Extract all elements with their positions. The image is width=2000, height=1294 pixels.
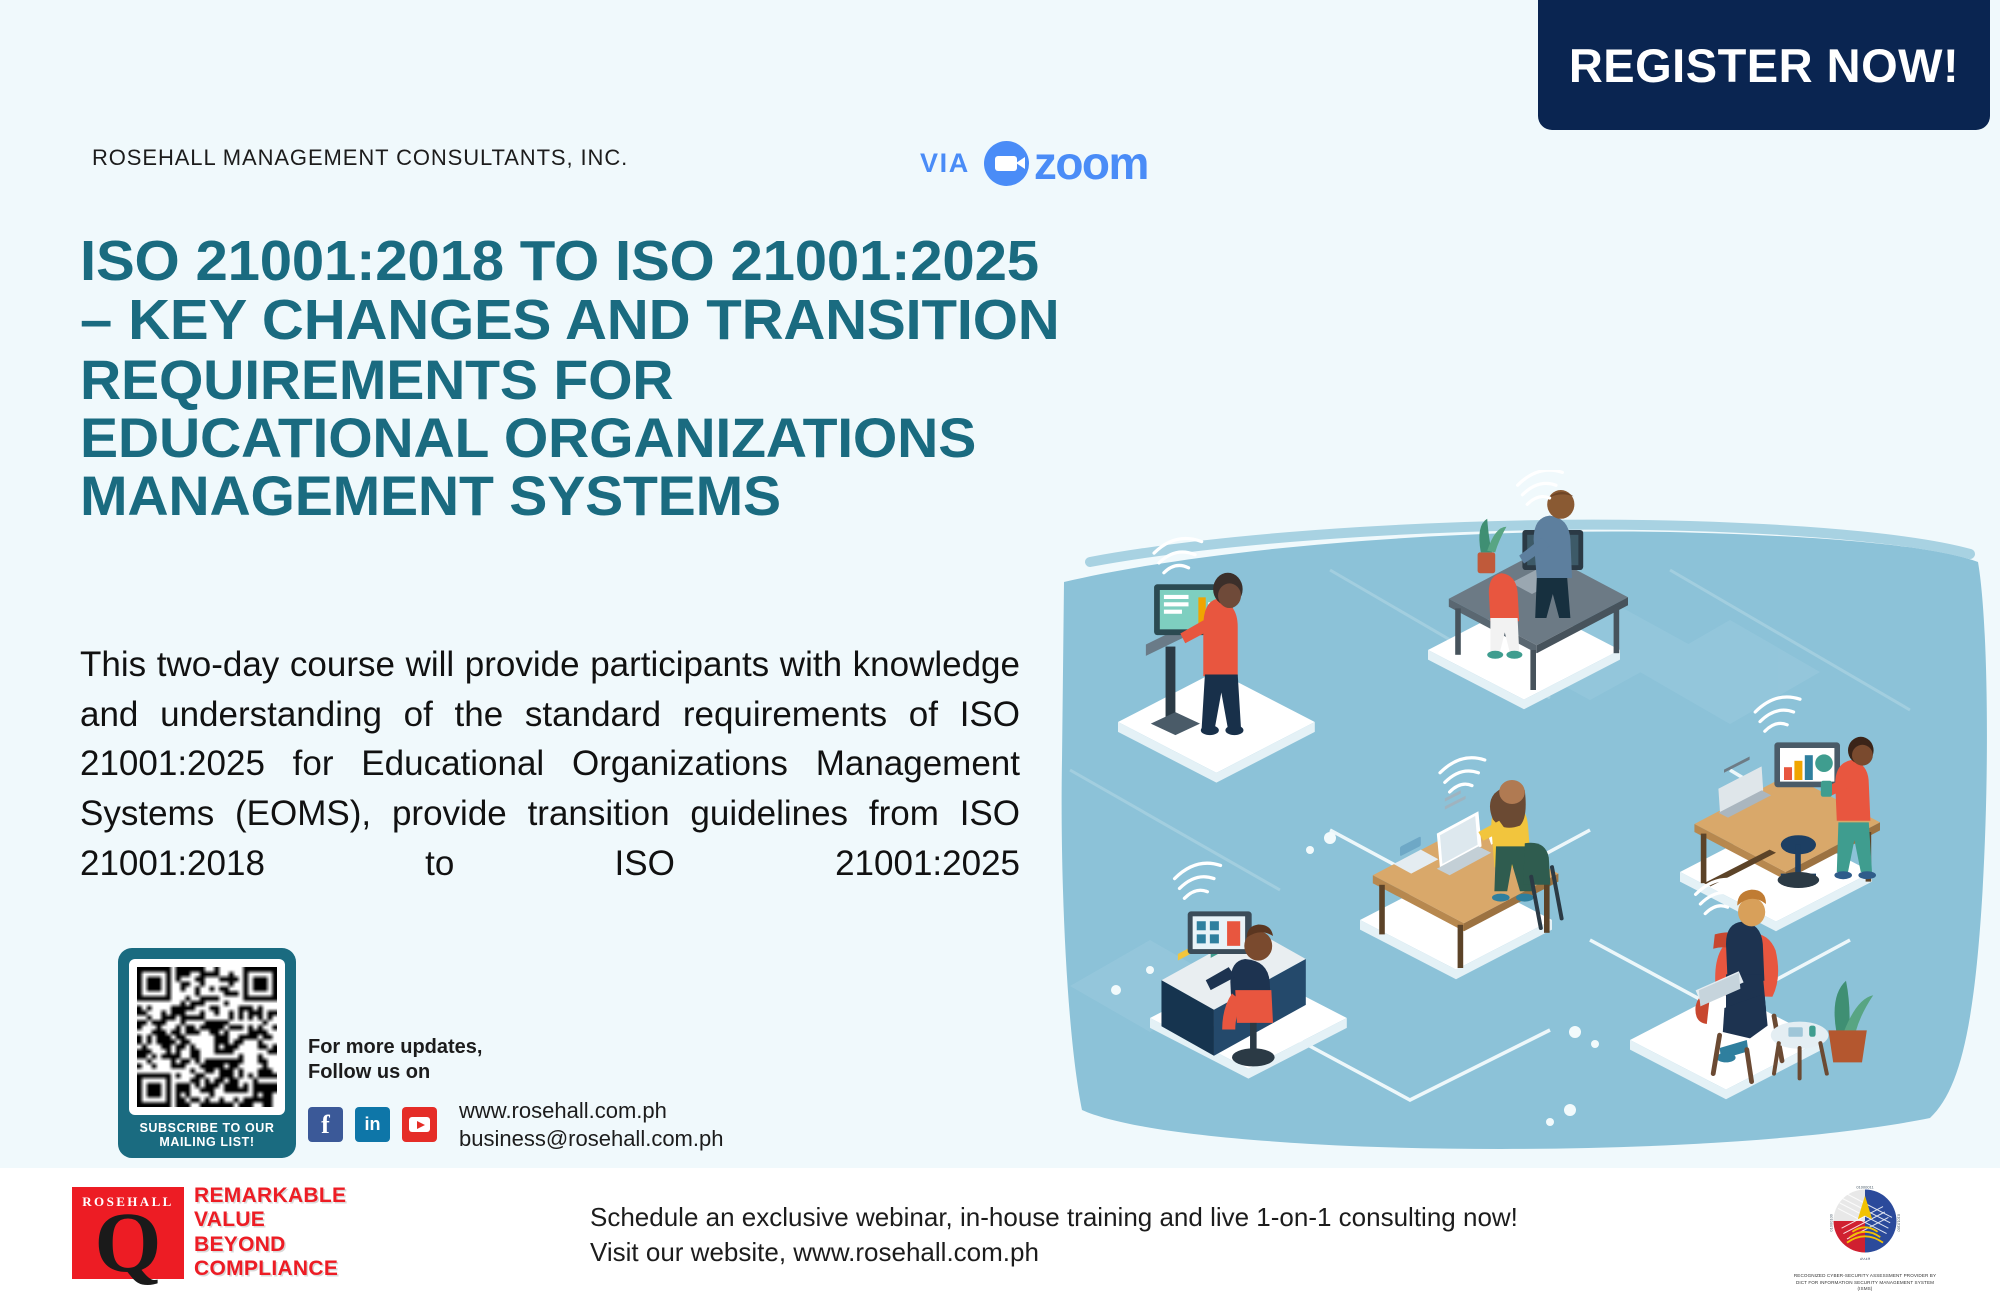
contact-details: www.rosehall.com.ph business@rosehall.co… — [459, 1097, 723, 1152]
footer: ROSEHALL Q REMARKABLE VALUE BEYOND COMPL… — [0, 1168, 2000, 1294]
footer-message: Schedule an exclusive webinar, in-house … — [590, 1200, 1518, 1269]
webinar-poster: REGISTER NOW! ROSEHALL MANAGEMENT CONSUL… — [0, 0, 2000, 1294]
register-now-label: REGISTER NOW! — [1569, 38, 1959, 93]
title-line-1: ISO 21001:2018 TO ISO 21001:2025 — [80, 232, 1365, 291]
follow-us-block: For more updates, Follow us on f in www.… — [308, 1035, 723, 1152]
facebook-icon[interactable]: f — [308, 1107, 343, 1142]
register-now-button[interactable]: REGISTER NOW! — [1538, 0, 1990, 130]
via-zoom-lockup: VIA zoom — [920, 140, 1148, 186]
rosehall-logo-letter: Q — [72, 1203, 184, 1282]
linkedin-icon[interactable]: in — [355, 1107, 390, 1142]
course-description: This two-day course will provide partici… — [80, 640, 1020, 938]
tagline-line-3: BEYOND — [194, 1233, 346, 1257]
website-link[interactable]: www.rosehall.com.ph — [459, 1097, 723, 1125]
title-line-3: REQUIREMENTS FOR — [80, 351, 1365, 409]
rosehall-logo: ROSEHALL Q REMARKABLE VALUE BEYOND COMPL… — [72, 1184, 346, 1281]
email-link[interactable]: business@rosehall.com.ph — [459, 1125, 723, 1153]
zoom-logo: zoom — [984, 140, 1148, 186]
brand-tagline: REMARKABLE VALUE BEYOND COMPLIANCE — [194, 1184, 346, 1281]
qr-caption-line-2: MAILING LIST! — [129, 1135, 285, 1149]
tagline-line-2: VALUE — [194, 1208, 346, 1232]
follow-heading-line-1: For more updates, — [308, 1035, 723, 1060]
qr-code-icon[interactable] — [129, 959, 285, 1115]
title-line-4: EDUCATIONAL ORGANIZATIONS — [80, 409, 1365, 467]
dict-cybersecurity-seal-icon: 2016 01000011 01000100 01010100 — [1820, 1176, 1910, 1266]
tagline-line-1: REMARKABLE — [194, 1184, 346, 1208]
zoom-wordmark: zoom — [1034, 140, 1148, 186]
follow-us-heading: For more updates, Follow us on — [308, 1035, 723, 1085]
certification-badge: 2016 01000011 01000100 01010100 RECOGNIZ… — [1790, 1176, 1940, 1293]
isometric-remote-workers-illustration — [1030, 470, 2000, 1170]
video-camera-icon — [984, 141, 1029, 186]
footer-message-line-2: Visit our website, www.rosehall.com.ph — [590, 1235, 1518, 1270]
qr-caption-line-1: SUBSCRIBE TO OUR — [129, 1121, 285, 1135]
cert-caption: RECOGNIZED CYBER-SECURITY ASSESSMENT PRO… — [1790, 1273, 1940, 1293]
via-label: VIA — [920, 148, 970, 179]
qr-caption: SUBSCRIBE TO OUR MAILING LIST! — [129, 1121, 285, 1150]
tagline-line-4: COMPLIANCE — [194, 1257, 346, 1281]
social-links-row: f in www.rosehall.com.ph business@roseha… — [308, 1097, 723, 1152]
youtube-icon[interactable] — [402, 1107, 437, 1142]
svg-text:01010100: 01010100 — [1896, 1214, 1901, 1232]
subscribe-qr-block[interactable]: SUBSCRIBE TO OUR MAILING LIST! — [118, 948, 296, 1158]
svg-text:01000100: 01000100 — [1829, 1213, 1834, 1231]
company-name: ROSEHALL MANAGEMENT CONSULTANTS, INC. — [92, 145, 628, 171]
title-line-2: – KEY CHANGES AND TRANSITION — [80, 291, 1365, 350]
svg-text:01000011: 01000011 — [1856, 1185, 1873, 1190]
rosehall-logo-mark: ROSEHALL Q — [72, 1187, 184, 1279]
footer-message-line-1: Schedule an exclusive webinar, in-house … — [590, 1200, 1518, 1235]
follow-heading-line-2: Follow us on — [308, 1060, 723, 1085]
course-description-text: This two-day course will provide partici… — [80, 640, 1020, 938]
